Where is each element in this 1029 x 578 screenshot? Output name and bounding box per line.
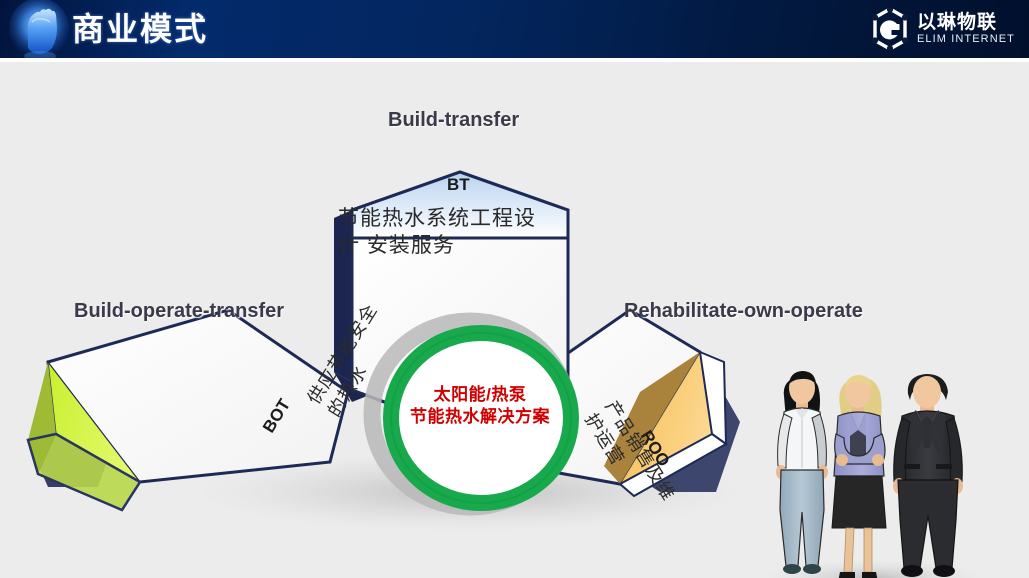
hexagon-g-logo-icon [870, 8, 910, 50]
label-rehabilitate-own-operate: Rehabilitate-own-operate [624, 300, 863, 323]
hexagon-tag-bt: BT [447, 175, 470, 195]
figure-man-dark-suit [893, 374, 963, 577]
figure-woman-lavender-jacket [832, 375, 886, 578]
three-business-people-illustration [762, 360, 984, 578]
label-build-operate-transfer: Build-operate-transfer [74, 300, 284, 323]
slide-header: 商业模式 以琳物联 ELIM INTERNET [0, 0, 1029, 58]
center-solution-text: 太阳能/热泵 节能热水解决方案 [380, 384, 580, 428]
figure-woman-white-shirt [776, 371, 828, 574]
label-build-transfer: Build-transfer [388, 109, 519, 132]
glowing-fist-icon [6, 0, 72, 58]
page-title: 商业模式 [72, 8, 208, 50]
slide-canvas: 商业模式 以琳物联 ELIM INTERNET [0, 0, 1029, 578]
logo-name-cn: 以琳物联 [917, 12, 1015, 33]
logo-text-block: 以琳物联 ELIM INTERNET [917, 12, 1015, 46]
logo-name-en: ELIM INTERNET [917, 33, 1015, 46]
company-logo: 以琳物联 ELIM INTERNET [870, 7, 1015, 51]
slide-body: Build-transfer Build-operate-transfer Re… [0, 62, 1029, 578]
hexagon-body-bt: 节能热水系统工程设 计 安装服务 [338, 205, 562, 259]
